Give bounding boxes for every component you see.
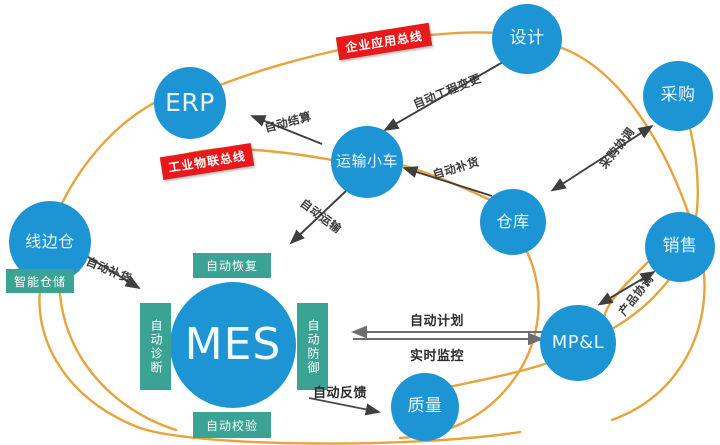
- node-sales-label: 销售: [663, 238, 698, 256]
- node-erp[interactable]: ERP: [154, 67, 226, 139]
- node-purchase-label: 采购: [661, 87, 696, 105]
- node-transport-agv[interactable]: 运输小车: [331, 126, 403, 198]
- tealbox-smart-storage[interactable]: 智能仓储: [6, 269, 74, 293]
- node-mpl[interactable]: MP&L: [540, 305, 616, 381]
- tealbox-auto-defense-label: 自动防御: [305, 319, 320, 375]
- tealbox-auto-validation-label: 自动校验: [206, 417, 258, 434]
- tealbox-auto-validation[interactable]: 自动校验: [193, 412, 271, 438]
- node-erp-label: ERP: [165, 90, 215, 116]
- label-auto-feedback: 自动反馈: [313, 382, 367, 401]
- tealbox-auto-defense[interactable]: 自动防御: [297, 303, 328, 390]
- node-quality-label: 质量: [408, 398, 443, 416]
- label-auto-feedback-text: 自动反馈: [313, 386, 367, 401]
- node-line-side-stock-label: 线边仓: [25, 234, 75, 251]
- node-sales[interactable]: 销售: [645, 212, 715, 282]
- diagram-canvas: ERP 设计 采购 运输小车 仓库 销售 线边仓 MP&L 质量 MES 智能仓…: [0, 0, 720, 445]
- tealbox-auto-recovery-label: 自动恢复: [206, 257, 258, 274]
- tealbox-auto-recovery[interactable]: 自动恢复: [193, 253, 271, 278]
- node-quality[interactable]: 质量: [391, 373, 459, 441]
- tealbox-smart-storage-label: 智能仓储: [14, 273, 66, 290]
- node-warehouse-label: 仓库: [496, 214, 529, 231]
- node-mes-label: MES: [185, 322, 282, 368]
- tealbox-auto-diagnosis-label: 自动诊断: [148, 319, 163, 375]
- node-purchase[interactable]: 采购: [643, 61, 713, 131]
- node-transport-agv-label: 运输小车: [336, 154, 398, 170]
- connector-layer: [0, 0, 720, 445]
- node-mpl-label: MP&L: [552, 334, 604, 353]
- node-design-label: 设计: [510, 30, 545, 48]
- node-warehouse[interactable]: 仓库: [480, 189, 546, 255]
- label-auto-plan-text: 自动计划: [410, 314, 464, 329]
- label-realtime-monitor-text: 实时监控: [410, 349, 464, 364]
- node-mes[interactable]: MES: [170, 282, 296, 408]
- label-realtime-monitor: 实时监控: [410, 345, 464, 364]
- node-design[interactable]: 设计: [492, 4, 562, 74]
- label-auto-plan: 自动计划: [410, 310, 464, 329]
- tealbox-auto-diagnosis[interactable]: 自动诊断: [140, 303, 171, 390]
